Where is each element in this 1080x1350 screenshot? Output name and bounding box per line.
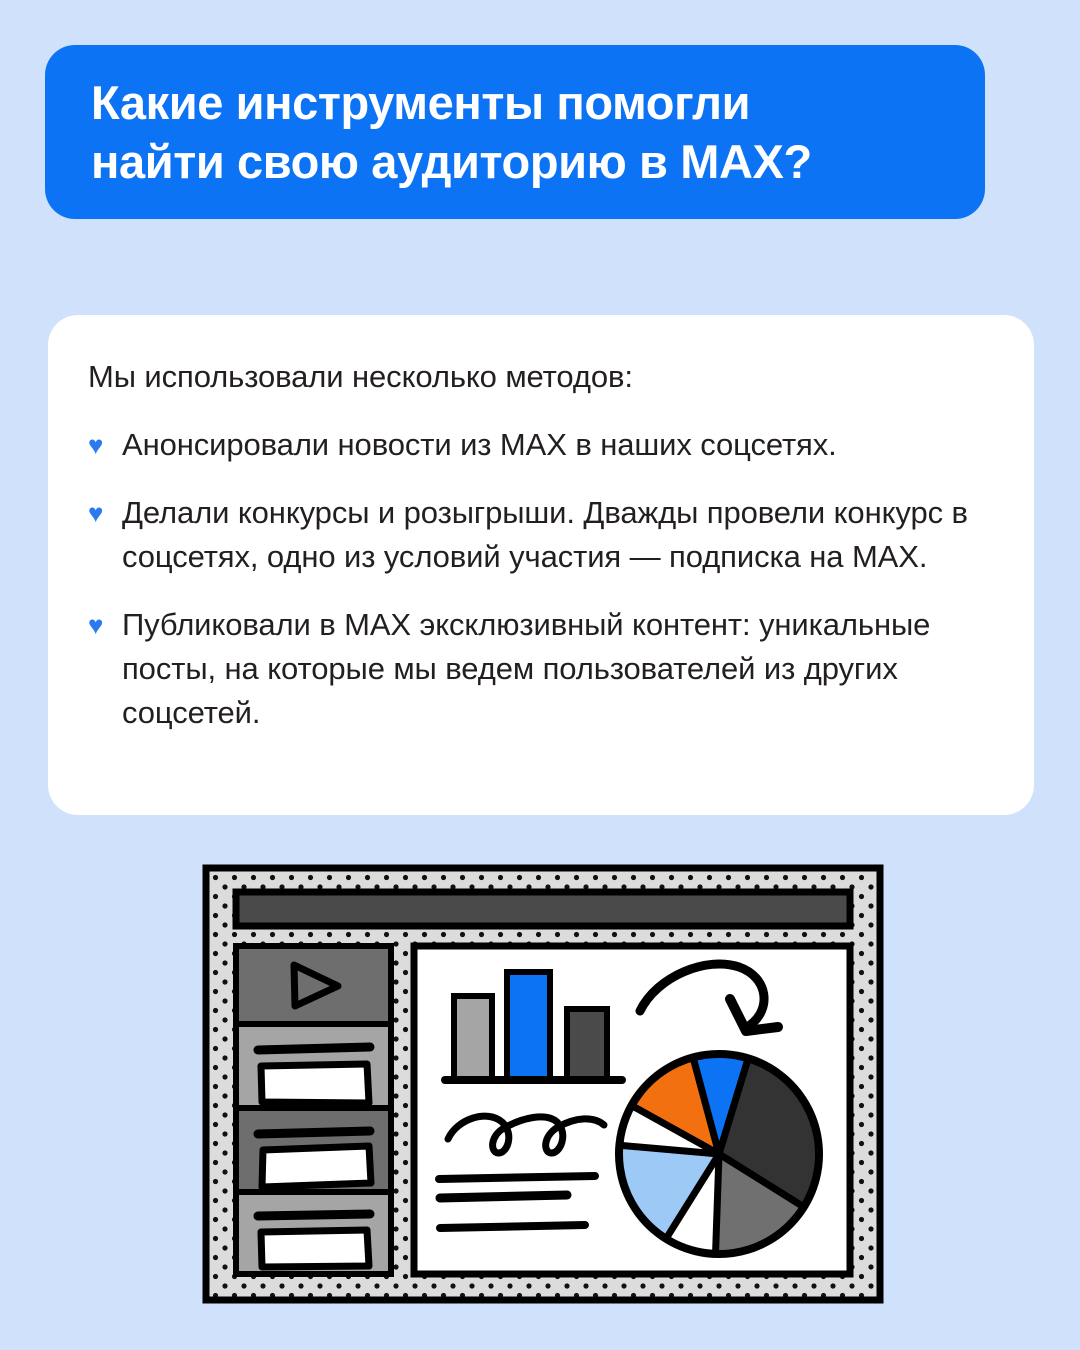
heart-icon: ♥ — [88, 612, 122, 638]
white-box — [261, 1230, 369, 1267]
white-box — [261, 1064, 369, 1103]
list-item-label: Публиковали в MAX эксклюзивный контент: … — [122, 603, 994, 735]
list-item: ♥ Анонсировали новости из MAX в наших со… — [88, 423, 994, 467]
title-banner: Какие инструменты помогли найти свою ауд… — [45, 45, 985, 219]
sidebar-item-play[interactable] — [236, 946, 391, 1024]
list-item: ♥ Делали конкурсы и розыгрыши. Дважды пр… — [88, 491, 994, 579]
window-title-bar — [236, 892, 850, 926]
methods-list: ♥ Анонсировали новости из MAX в наших со… — [88, 423, 994, 735]
white-box — [262, 1146, 371, 1187]
list-item-label: Делали конкурсы и розыгрыши. Дважды пров… — [122, 491, 994, 579]
sidebar — [236, 946, 391, 1274]
heart-icon: ♥ — [88, 500, 122, 526]
heart-icon: ♥ — [88, 432, 122, 458]
analytics-dashboard-illustration — [202, 864, 884, 1304]
sidebar-item-1[interactable] — [236, 1024, 391, 1108]
list-item: ♥ Публиковали в MAX эксклюзивный контент… — [88, 603, 994, 735]
page-title: Какие инструменты помогли найти свою ауд… — [91, 73, 812, 191]
content-card: Мы использовали несколько методов: ♥ Ано… — [48, 315, 1034, 815]
list-item-label: Анонсировали новости из MAX в наших соцс… — [122, 423, 837, 467]
sidebar-item-2[interactable] — [236, 1108, 391, 1192]
intro-text: Мы использовали несколько методов: — [88, 357, 994, 397]
sidebar-item-3[interactable] — [236, 1192, 391, 1274]
